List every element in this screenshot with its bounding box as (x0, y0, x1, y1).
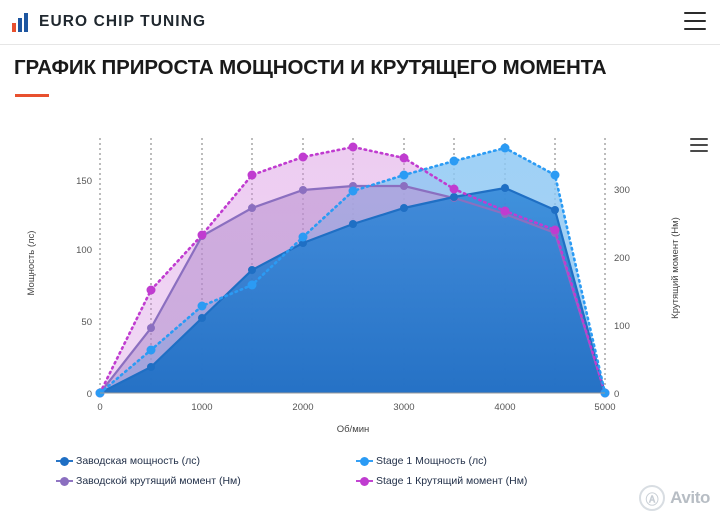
svg-text:300: 300 (614, 185, 630, 196)
avito-mark-icon: Ⓐ (639, 485, 665, 511)
brand-name: EURO CHIP TUNING (39, 13, 206, 31)
legend-label: Заводской крутящий момент (Нм) (76, 475, 241, 487)
y-axis-left-ticks: 0 50 100 150 (76, 176, 92, 400)
page-root: EURO CHIP TUNING ГРАФИК ПРИРОСТА МОЩНОСТ… (0, 0, 720, 517)
svg-text:0: 0 (87, 389, 92, 400)
page-title: ГРАФИК ПРИРОСТА МОЩНОСТИ И КРУТЯЩЕГО МОМ… (14, 56, 704, 80)
x-axis-ticks: 0 1000 2000 3000 4000 5000 (97, 402, 615, 413)
title-underline (15, 94, 49, 97)
legend-item-stage1-power[interactable]: Stage 1 Мощность (лс) (360, 455, 660, 467)
avito-watermark: Ⓐ Avito (639, 485, 710, 511)
chart-container: 0 50 100 150 0 100 200 300 0 1000 2000 3… (0, 108, 720, 468)
y-axis-left-title: Мощность (лс) (26, 231, 37, 296)
legend-label: Заводская мощность (лс) (76, 455, 200, 467)
svg-text:0: 0 (97, 402, 102, 413)
legend-item-stage1-torque[interactable]: Stage 1 Крутящий момент (Нм) (360, 475, 660, 487)
svg-text:150: 150 (76, 176, 92, 187)
svg-text:0: 0 (614, 389, 619, 400)
chart-legend: Заводская мощность (лс) Stage 1 Мощность… (60, 455, 670, 487)
svg-text:4000: 4000 (494, 402, 515, 413)
legend-swatch-icon (60, 457, 69, 466)
legend-item-stock-torque[interactable]: Заводской крутящий момент (Нм) (60, 475, 360, 487)
svg-text:100: 100 (614, 321, 630, 332)
site-header: EURO CHIP TUNING (0, 0, 720, 45)
y-axis-right-title: Крутящий момент (Нм) (670, 217, 681, 319)
power-torque-chart: 0 50 100 150 0 100 200 300 0 1000 2000 3… (0, 108, 720, 468)
legend-item-stock-power[interactable]: Заводская мощность (лс) (60, 455, 360, 467)
logo-bars-icon (12, 12, 30, 32)
y-axis-right-ticks: 0 100 200 300 (614, 185, 630, 400)
legend-swatch-icon (360, 477, 369, 486)
svg-text:200: 200 (614, 253, 630, 264)
svg-text:3000: 3000 (393, 402, 414, 413)
svg-text:100: 100 (76, 245, 92, 256)
legend-label: Stage 1 Мощность (лс) (376, 455, 487, 467)
logo[interactable]: EURO CHIP TUNING (12, 12, 206, 32)
legend-label: Stage 1 Крутящий момент (Нм) (376, 475, 527, 487)
x-axis-title: Об/мин (337, 424, 370, 435)
avito-watermark-text: Avito (670, 488, 710, 508)
legend-swatch-icon (360, 457, 369, 466)
hamburger-icon[interactable] (684, 12, 706, 30)
svg-text:1000: 1000 (191, 402, 212, 413)
svg-text:2000: 2000 (292, 402, 313, 413)
svg-text:50: 50 (81, 317, 92, 328)
legend-swatch-icon (60, 477, 69, 486)
svg-text:5000: 5000 (594, 402, 615, 413)
